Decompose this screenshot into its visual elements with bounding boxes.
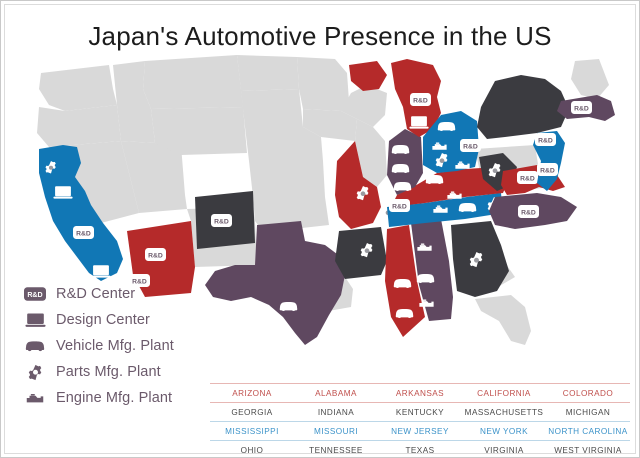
state-south-dakota [241,89,303,127]
table-cell: TEXAS [378,441,462,455]
table-cell: ARKANSAS [378,384,462,403]
state-nebraska [245,127,323,161]
legend-label-vehicle-plant: Vehicle Mfg. Plant [56,338,174,354]
legend-item-rd-center: R&D R&D Center [23,283,213,305]
state-florida [475,295,531,345]
state-table: ARIZONA ALABAMA ARKANSAS CALIFORNIA COLO… [210,383,630,454]
table-cell: MISSOURI [294,422,378,441]
legend-item-parts-plant: Parts Mfg. Plant [23,361,213,383]
infographic-canvas: Japan's Automotive Presence in the US R&… [4,4,636,454]
legend-label-engine-plant: Engine Mfg. Plant [56,390,172,406]
table-cell: NEW JERSEY [378,422,462,441]
table-cell: NORTH CAROLINA [546,422,630,441]
legend-item-vehicle-plant: Vehicle Mfg. Plant [23,335,213,357]
table-row: GEORGIA INDIANA KENTUCKY MASSACHUSETTS M… [210,403,630,422]
infographic-frame: Japan's Automotive Presence in the US R&… [0,0,640,458]
laptop-icon [23,311,47,329]
table-cell: VIRGINIA [462,441,546,455]
table-cell: NEW YORK [462,422,546,441]
car-icon [23,337,47,355]
table-cell: WEST VIRGINIA [546,441,630,455]
state-north-dakota [237,55,299,91]
state-kansas [249,161,325,197]
state-list-table: ARIZONA ALABAMA ARKANSAS CALIFORNIA COLO… [210,383,630,454]
map-legend: R&D R&D Center Design Center [23,283,213,413]
state-colorado [195,191,255,249]
rd-badge-icon: R&D [23,285,47,303]
table-cell: COLORADO [546,384,630,403]
table-row: ARIZONA ALABAMA ARKANSAS CALIFORNIA COLO… [210,384,630,403]
state-minnesota [297,57,349,111]
table-cell: OHIO [210,441,294,455]
table-cell: CALIFORNIA [462,384,546,403]
table-cell: MASSACHUSETTS [462,403,546,422]
state-oregon [37,105,121,147]
engine-icon [23,389,47,407]
table-cell: KENTUCKY [378,403,462,422]
legend-label-parts-plant: Parts Mfg. Plant [56,364,161,380]
legend-label-design-center: Design Center [56,312,150,328]
gear-icon [23,363,47,381]
state-montana [143,55,243,109]
table-cell: ALABAMA [294,384,378,403]
legend-item-engine-plant: Engine Mfg. Plant [23,387,213,409]
table-row: MISSISSIPPI MISSOURI NEW JERSEY NEW YORK… [210,422,630,441]
table-cell: GEORGIA [210,403,294,422]
table-cell: ARIZONA [210,384,294,403]
table-cell: MISSISSIPPI [210,422,294,441]
table-cell: INDIANA [294,403,378,422]
legend-item-design-center: Design Center [23,309,213,331]
table-row: OHIO TENNESSEE TEXAS VIRGINIA WEST VIRGI… [210,441,630,455]
svg-text:R&D: R&D [27,291,42,299]
legend-label-rd-center: R&D Center [56,286,135,302]
state-arkansas [335,227,387,279]
table-cell: MICHIGAN [546,403,630,422]
state-north-carolina [489,193,577,229]
table-cell: TENNESSEE [294,441,378,455]
state-washington [39,65,117,111]
